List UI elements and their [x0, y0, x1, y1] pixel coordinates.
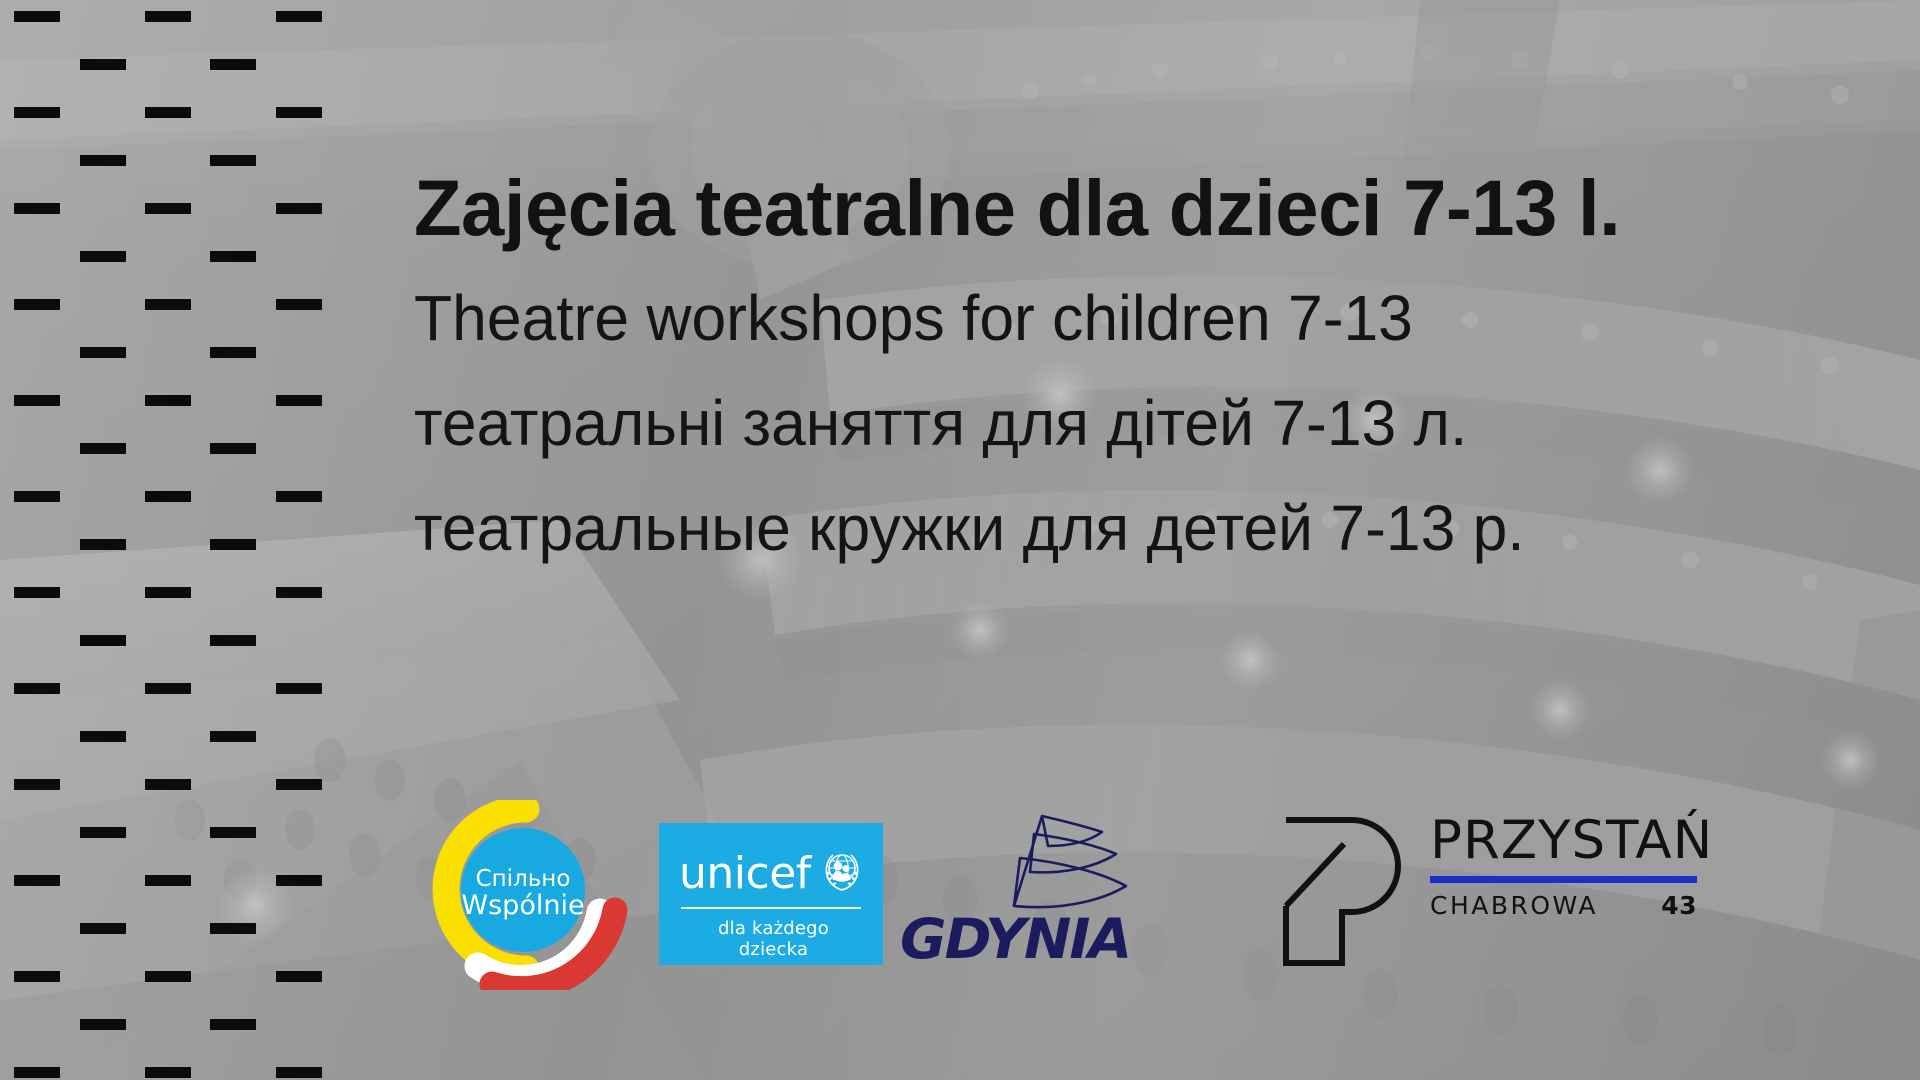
dash-mark [14, 779, 60, 790]
dash-mark [145, 11, 191, 22]
subtitle-ukrainian: театральні заняття для дітей 7-13 л. [414, 391, 1828, 455]
dash-mark [14, 299, 60, 310]
dash-mark [145, 491, 191, 502]
svg-text:Спільно: Спільно [476, 866, 571, 892]
dash-mark [276, 1067, 322, 1078]
dash-mark [14, 491, 60, 502]
dash-mark [276, 491, 322, 502]
unicef-wordmark-row: unicef [679, 849, 864, 898]
dash-mark [14, 107, 60, 118]
dash-mark [210, 251, 256, 262]
dash-mark [210, 635, 256, 646]
dash-mark [80, 731, 126, 742]
dash-mark [276, 299, 322, 310]
dash-mark [145, 299, 191, 310]
dash-mark [145, 1067, 191, 1078]
logo-gdynia[interactable]: GDYNIA [900, 812, 1130, 982]
dash-mark [145, 779, 191, 790]
dash-mark [80, 155, 126, 166]
przystan-title: PRZYSTAŃ [1430, 814, 1700, 867]
dash-mark [276, 107, 322, 118]
przystan-number: 43 [1661, 891, 1697, 920]
dash-mark [276, 587, 322, 598]
dash-mark [210, 443, 256, 454]
unicef-emblem-icon [820, 849, 864, 898]
dash-mark [145, 203, 191, 214]
subtitle-russian: театральные кружки для детей 7-13 р. [414, 496, 1828, 560]
dash-mark [80, 1019, 126, 1030]
logo-spilno-wspolnie[interactable]: Спільно Wspólnie [414, 800, 632, 990]
dash-mark [276, 11, 322, 22]
dash-mark [210, 59, 256, 70]
dash-mark [14, 203, 60, 214]
subtitle-english: Theatre workshops for children 7-13 [414, 286, 1828, 350]
dash-mark [80, 251, 126, 262]
page-title: Zajęcia teatralne dla dzieci 7-13 l. [414, 168, 1842, 247]
dash-mark [14, 395, 60, 406]
dash-mark [80, 59, 126, 70]
dash-mark [210, 1019, 256, 1030]
dash-mark [14, 683, 60, 694]
dash-mark [145, 683, 191, 694]
dash-mark [276, 683, 322, 694]
dash-mark [210, 347, 256, 358]
dash-mark [145, 395, 191, 406]
svg-text:Wspólnie: Wspólnie [461, 890, 584, 921]
przystan-subtitle: CHABROWA [1430, 891, 1598, 920]
dash-mark [276, 395, 322, 406]
dash-mark [80, 443, 126, 454]
dash-mark [14, 11, 60, 22]
dash-mark [14, 587, 60, 598]
dash-mark [210, 155, 256, 166]
unicef-tagline: dla każdego dziecka [681, 918, 866, 960]
unicef-divider [681, 907, 861, 909]
dash-mark [80, 635, 126, 646]
dash-mark [14, 1067, 60, 1078]
unicef-wordmark: unicef [679, 852, 811, 896]
dash-mark [80, 347, 126, 358]
przystan-bottom-row: CHABROWA 43 [1430, 891, 1697, 920]
przystan-text: PRZYSTAŃ CHABROWA 43 [1430, 814, 1700, 920]
logo-strip: Спільно Wspólnie unicef [0, 800, 1920, 990]
dash-mark [276, 779, 322, 790]
dash-mark [80, 539, 126, 550]
dash-mark [210, 539, 256, 550]
przystan-divider [1430, 876, 1697, 883]
gdynia-wordmark: GDYNIA [900, 912, 1137, 967]
dash-mark [276, 203, 322, 214]
dash-mark [145, 587, 191, 598]
poster-canvas: Zajęcia teatralne dla dzieci 7-13 l. The… [0, 0, 1920, 1080]
dash-mark [145, 107, 191, 118]
headline-block: Zajęcia teatralne dla dzieci 7-13 l. The… [414, 168, 1864, 560]
p-monogram-icon [1280, 814, 1410, 974]
logo-unicef[interactable]: unicef [659, 823, 883, 965]
dash-mark [210, 731, 256, 742]
logo-przystan-chabrowa[interactable]: PRZYSTAŃ CHABROWA 43 [1280, 808, 1700, 973]
